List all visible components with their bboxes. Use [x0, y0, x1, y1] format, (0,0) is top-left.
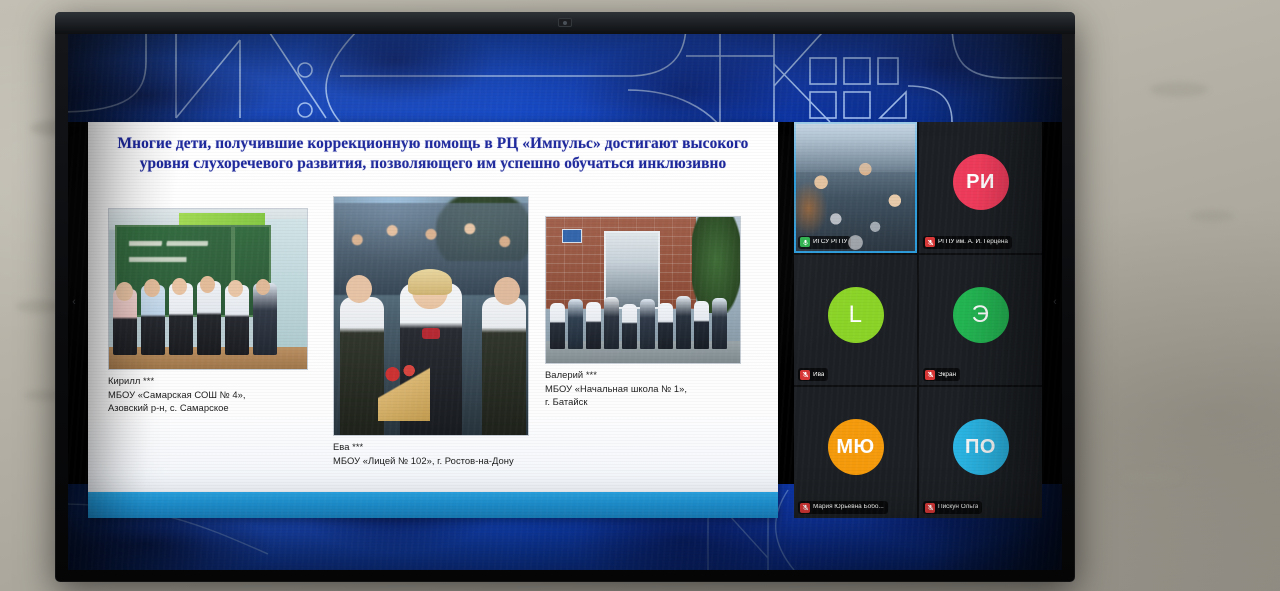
microphone-off-icon — [800, 503, 810, 513]
participant-name: Ива — [813, 372, 824, 378]
collapse-right-chevron-icon[interactable]: ‹ — [1050, 289, 1060, 315]
avatar-initials: РИ — [966, 171, 995, 194]
display-monitor: Многие дети, получившие коррекционную по… — [55, 12, 1075, 582]
participant-name: РГПУ им. А. И. Герцена — [938, 239, 1008, 245]
avatar-initials: L — [849, 301, 863, 329]
avatar-initials: МЮ — [836, 436, 874, 459]
participant-tile[interactable]: L Ива — [794, 255, 917, 386]
avatar: Э — [953, 287, 1009, 343]
avatar-initials: ПО — [965, 436, 996, 459]
microphone-on-icon — [800, 237, 810, 247]
participant-name: Экран — [938, 372, 956, 378]
microphone-off-icon — [925, 503, 935, 513]
ceremony-photo — [333, 196, 529, 436]
shared-slide[interactable]: Многие дети, получившие коррекционную по… — [88, 122, 778, 518]
participant-tile[interactable]: Э Экран — [919, 255, 1042, 386]
microphone-off-icon — [925, 237, 935, 247]
participant-name-chip: Пискун Ольга — [923, 501, 982, 514]
school-entrance-photo — [545, 216, 741, 364]
participant-name: Пискун Ольга — [938, 504, 978, 510]
slide-photo-area: Кирилл *** МБОУ «Самарская СОШ № 4», Азо… — [88, 200, 778, 490]
participant-tile[interactable]: МЮ Мария Юрьевна Бобо... — [794, 387, 917, 518]
participant-name-chip: Экран — [923, 368, 960, 381]
photo-card-school-entrance: Валерий *** МБОУ «Начальная школа № 1», … — [545, 216, 741, 364]
avatar: РИ — [953, 154, 1009, 210]
collapse-left-chevron-icon[interactable]: ‹ — [69, 289, 79, 315]
photo-card-ceremony: Ева *** МБОУ «Лицей № 102», г. Ростов-на… — [333, 196, 529, 436]
microphone-off-icon — [925, 370, 935, 380]
participant-tile[interactable]: ПО Пискун Ольга — [919, 387, 1042, 518]
slide-title: Многие дети, получившие коррекционную по… — [88, 122, 778, 180]
participant-grid: ИГСУ РГПУ РИ РГПУ им. А. И. Герцена L — [794, 122, 1042, 518]
avatar: ПО — [953, 419, 1009, 475]
photo-caption: Ева *** МБОУ «Лицей № 102», г. Ростов-на… — [333, 440, 529, 467]
photo-caption: Валерий *** МБОУ «Начальная школа № 1», … — [545, 368, 741, 409]
microphone-off-icon — [800, 370, 810, 380]
participant-name-chip: Ива — [798, 368, 828, 381]
brand-banner-top — [68, 34, 1062, 122]
avatar: L — [828, 287, 884, 343]
photo-card-classroom: Кирилл *** МБОУ «Самарская СОШ № 4», Азо… — [108, 208, 308, 370]
participant-tile[interactable]: ИГСУ РГПУ — [794, 122, 917, 253]
participant-name-chip: Мария Юрьевна Бобо... — [798, 501, 888, 514]
classroom-photo — [108, 208, 308, 370]
webcam-icon — [558, 18, 572, 27]
photo-caption: Кирилл *** МБОУ «Самарская СОШ № 4», Азо… — [108, 374, 308, 415]
participant-name: Мария Юрьевна Бобо... — [813, 504, 884, 510]
participant-name-chip: РГПУ им. А. И. Герцена — [923, 236, 1012, 249]
screen-panel: Многие дети, получившие коррекционную по… — [68, 34, 1062, 570]
participant-name: ИГСУ РГПУ — [813, 239, 847, 245]
monitor-bezel — [55, 12, 1075, 34]
participant-tile[interactable]: РИ РГПУ им. А. И. Герцена — [919, 122, 1042, 253]
participant-name-chip: ИГСУ РГПУ — [798, 236, 851, 249]
slide-accent-bar — [88, 492, 778, 518]
avatar-initials: Э — [972, 301, 990, 329]
avatar: МЮ — [828, 419, 884, 475]
